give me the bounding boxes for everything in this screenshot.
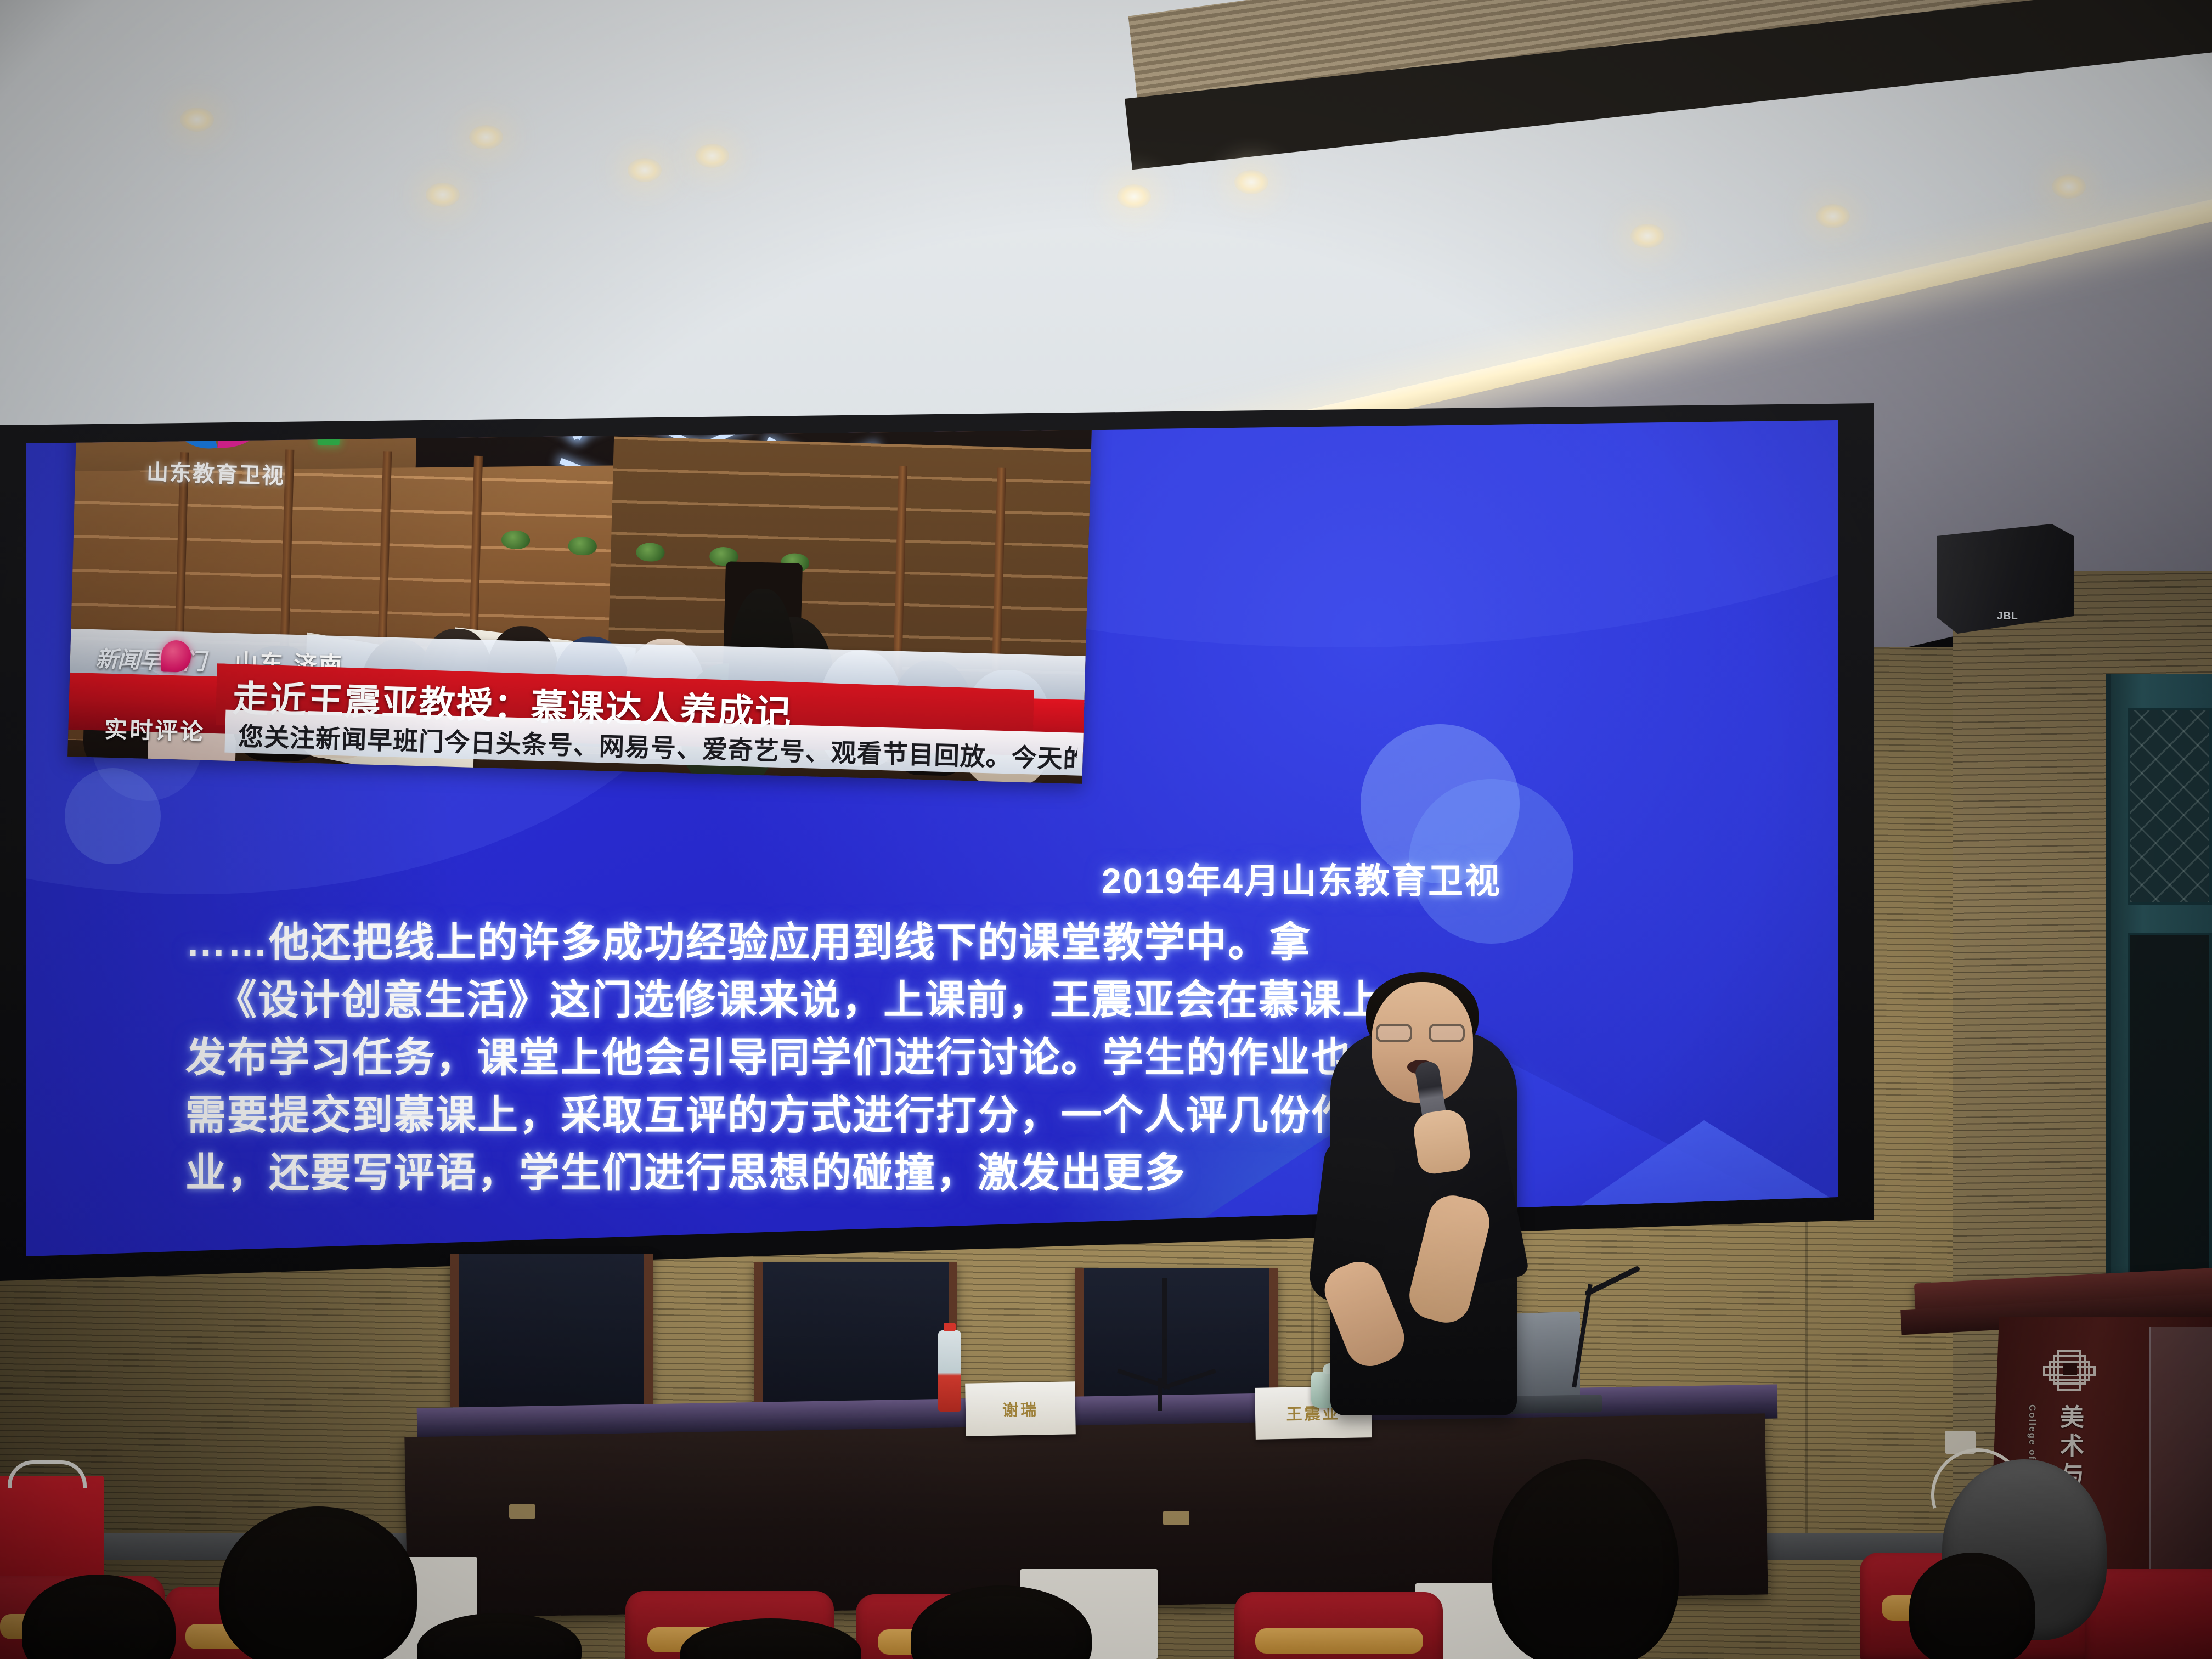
microphone-stand-leg <box>1158 1378 1162 1411</box>
video-shelf-plant <box>501 530 531 549</box>
station-bug-name: 山东教育卫视 <box>146 455 285 490</box>
slide-line: 发布学习任务，课堂上他会引导同学们进行讨论。学生的作业也 <box>185 1029 1765 1086</box>
stage-chair[interactable] <box>754 1262 957 1409</box>
ceiling-downlight <box>469 125 503 149</box>
video-shelf-plant <box>636 543 665 562</box>
ceiling-downlight <box>695 144 729 168</box>
name-placard: 谢瑞 <box>965 1381 1076 1436</box>
ceiling-downlight <box>180 108 214 132</box>
presenter-glasses-icon <box>1376 1024 1469 1043</box>
ceiling-downlight <box>1630 224 1664 248</box>
live-comment-label: 实时评论 <box>104 711 206 747</box>
placard-name: 谢瑞 <box>1002 1397 1039 1420</box>
video-shelf-plant <box>568 536 597 555</box>
microphone-stand-pole <box>1162 1278 1167 1388</box>
ceiling-downlight <box>628 158 662 182</box>
lecture-hall-photo: JBL <box>0 0 2212 1659</box>
ceiling-downlight <box>2052 174 2086 199</box>
slide-line: 需要提交到慕课上，采取互评的方式进行打分，一个人评几份作 <box>185 1086 1765 1144</box>
college-emblem-icon <box>2040 1345 2099 1396</box>
slide-line: ……他还把线上的许多成功经验应用到线下的课堂教学中。拿 <box>185 913 1765 971</box>
slide-caption: 2019年4月山东教育卫视 <box>1102 853 1502 904</box>
ceiling-downlight <box>1117 184 1151 208</box>
slide-body-text: ……他还把线上的许多成功经验应用到线下的课堂教学中。拿 《设计创意生活》这门选修… <box>185 913 1765 1201</box>
slide-line: 业，还要写评语，学生们进行思想的碰撞，激发出更多 <box>185 1144 1765 1201</box>
slide-line: 《设计创意生活》这门选修课来说，上课前，王震亚会在慕课上 <box>185 971 1765 1029</box>
water-bottle[interactable] <box>938 1330 961 1412</box>
ceiling-downlight <box>1816 204 1850 228</box>
stage-chair[interactable] <box>1075 1268 1278 1412</box>
table-hardware <box>1163 1511 1189 1525</box>
audience-head <box>1909 1553 2035 1659</box>
table-hardware <box>509 1504 535 1519</box>
stage-chair[interactable] <box>450 1254 653 1407</box>
news-video-inset: 山东教育卫视 新闻早都门 山东 济南 走近王震亚教授：慕课达人养成记 实时评论 … <box>67 417 1093 784</box>
audience-seat-trim <box>1255 1628 1423 1654</box>
door-lattice-window <box>2128 708 2212 905</box>
audience-head <box>1492 1459 1679 1659</box>
led-screen-display[interactable]: 山东教育卫视 新闻早都门 山东 济南 走近王震亚教授：慕课达人养成记 实时评论 … <box>26 417 1838 1256</box>
ceiling-downlight <box>426 183 460 207</box>
ceiling-downlight <box>1234 170 1268 194</box>
speaker-brand-logo: JBL <box>1997 611 2018 623</box>
slide-decor-circle <box>65 768 161 864</box>
